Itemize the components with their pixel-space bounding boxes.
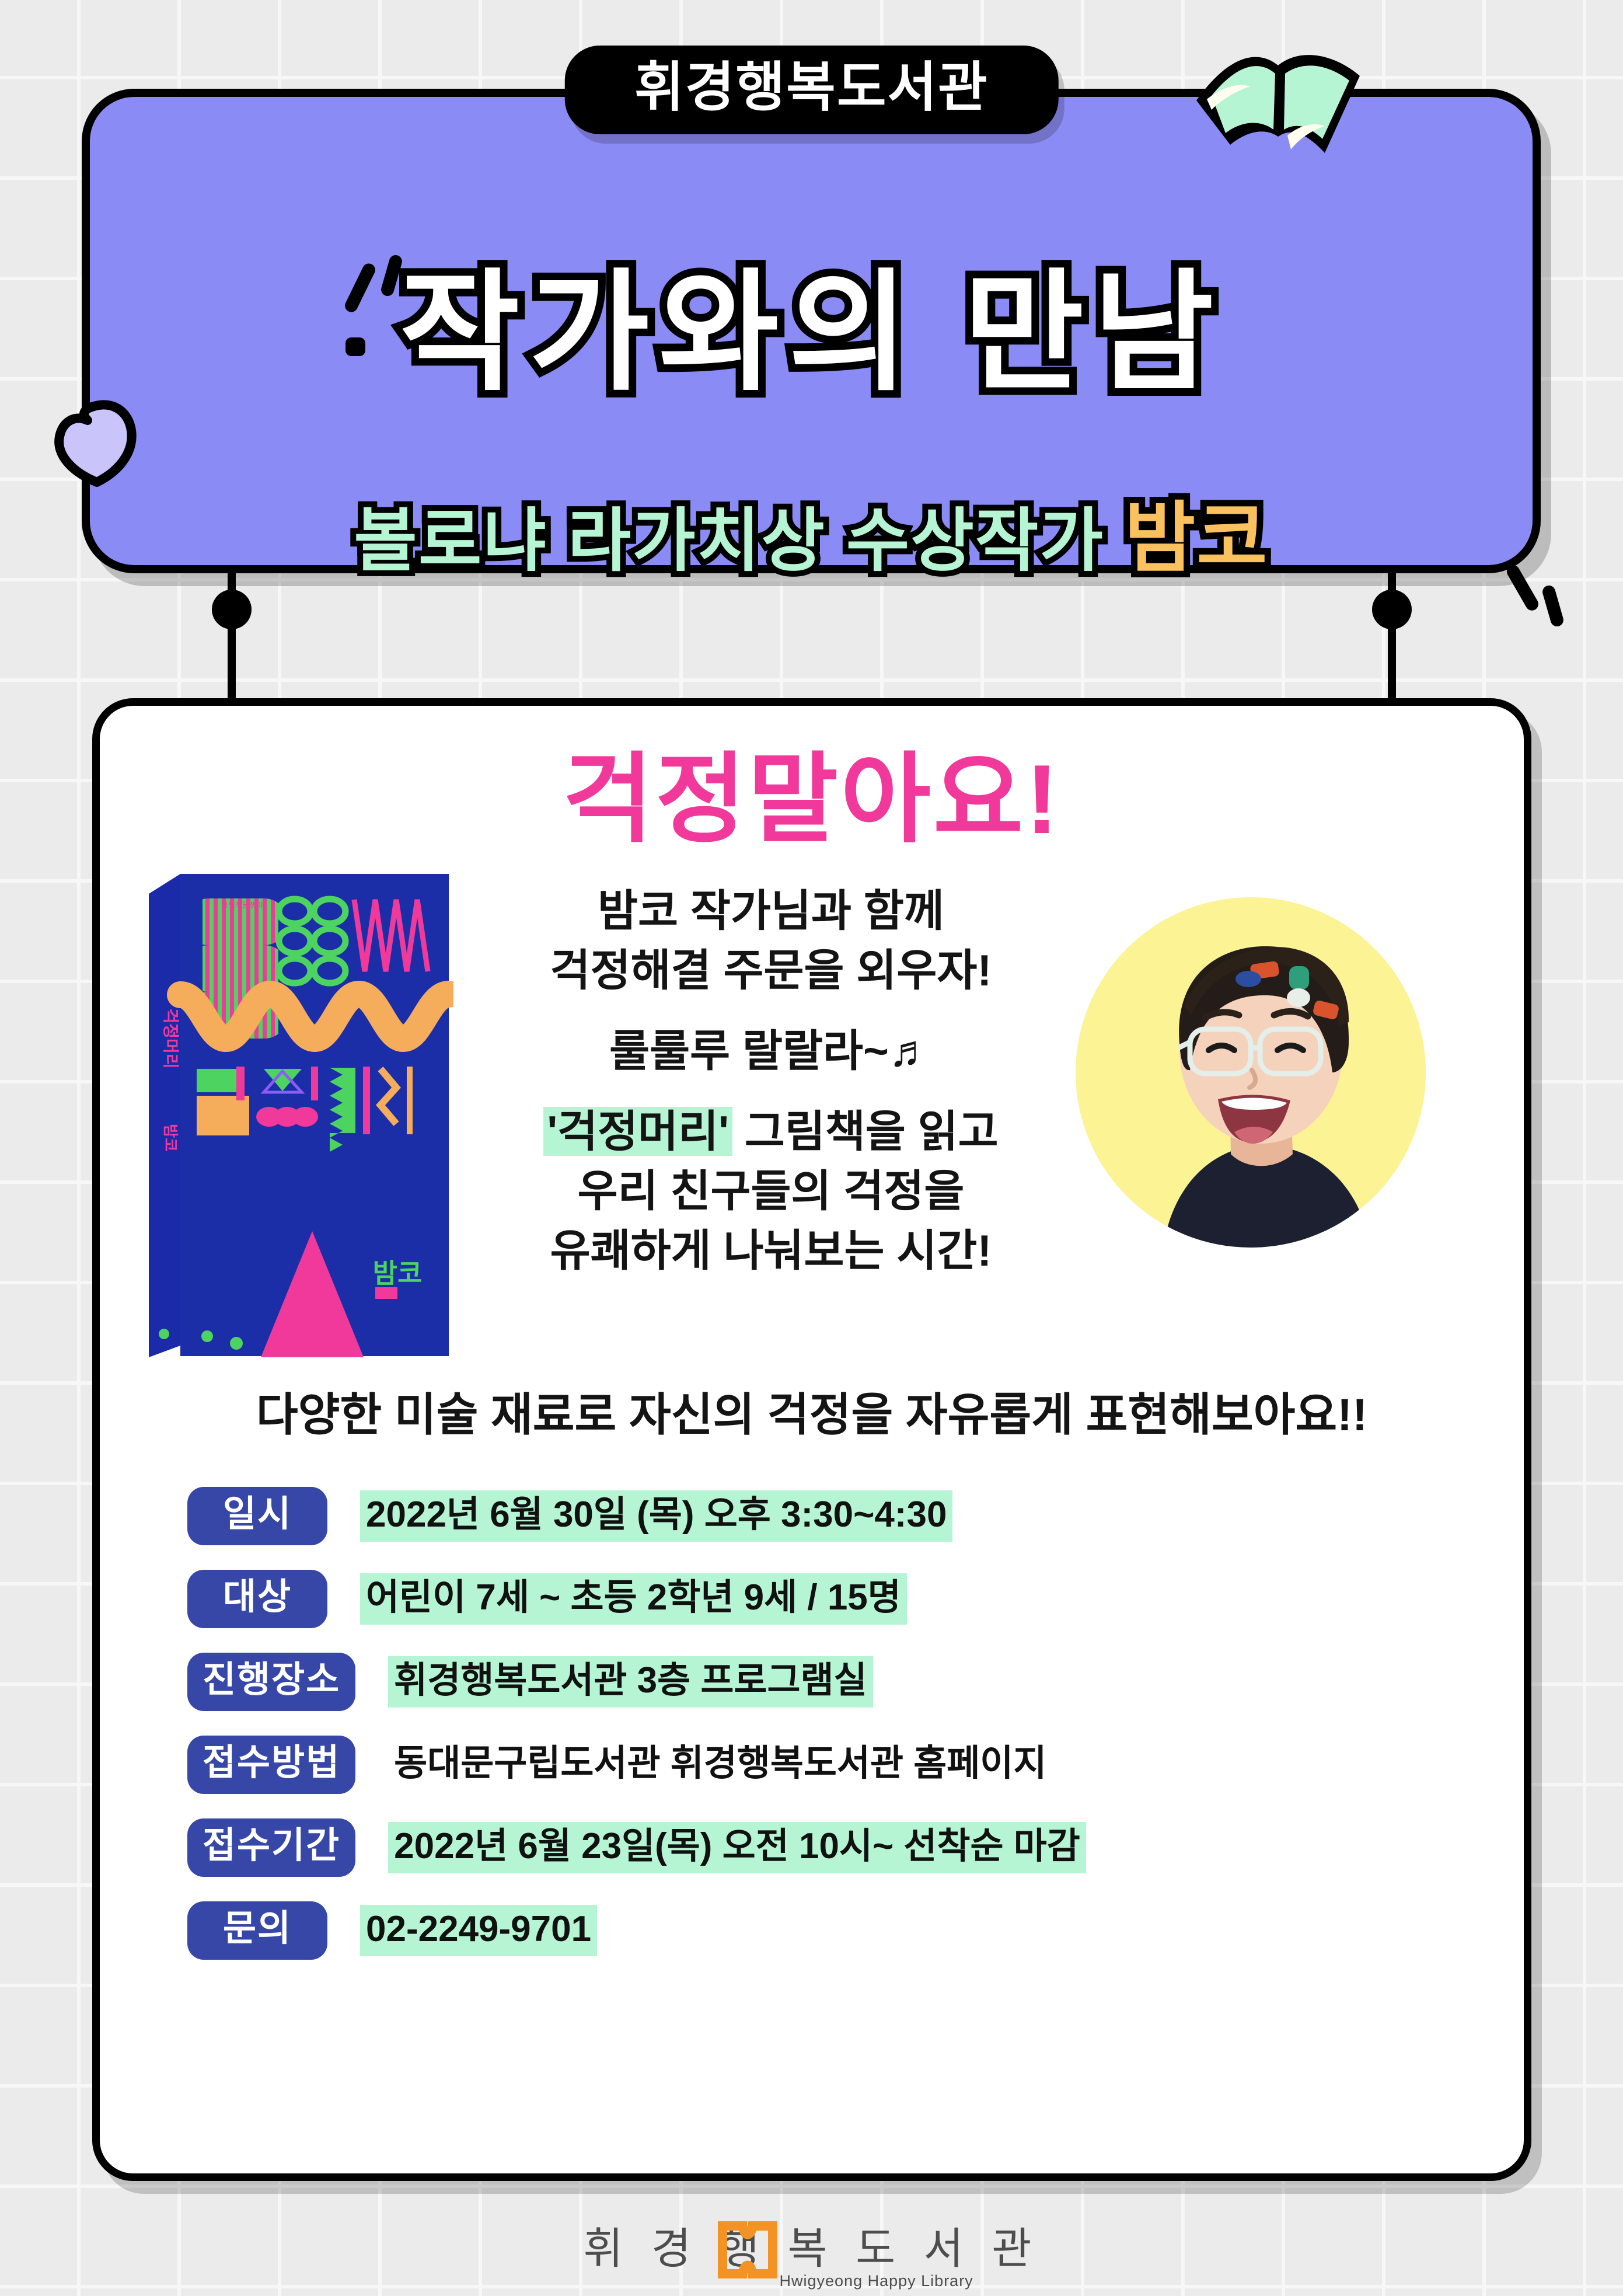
heart-icon [54, 398, 153, 490]
table-row: 접수방법 동대문구립도서관 휘경행복도서관 홈페이지 [187, 1731, 1471, 1799]
subtitle-award: 볼로냐 라가치상 수상작가 [354, 503, 1104, 580]
author-photo [1076, 897, 1426, 1248]
subtitle-author-name: 밤코 [1125, 495, 1269, 581]
description-line: 걱정해결 주문을 외우자! [444, 940, 1098, 1000]
info-label-datetime: 일시 [187, 1487, 327, 1545]
event-info-table: 일시 2022년 6월 30일 (목) 오후 3:30~4:30 대상 어린이 … [187, 1482, 1471, 1980]
content-white-card: 걱정말아요! 걱정머리 밤코 그림책담쟁이 [92, 698, 1531, 2181]
info-label-audience: 대상 [187, 1570, 327, 1628]
info-label-contact: 문의 [187, 1901, 327, 1960]
svg-text:밤코: 밤코 [373, 1258, 423, 1288]
svg-text:밤코: 밤코 [162, 1124, 179, 1152]
open-book-logo-icon [713, 2214, 782, 2285]
book-title-highlight: '걱정머리' [543, 1107, 732, 1156]
table-row: 문의 02-2249-9701 [187, 1897, 1471, 1964]
table-row: 대상 어린이 7세 ~ 초등 2학년 9세 / 15명 [187, 1565, 1471, 1633]
info-label-registration-method: 접수방법 [187, 1736, 355, 1794]
library-name-badge: 휘경행복도서관 [564, 46, 1058, 134]
book-cover-image: 걱정머리 밤코 그림책담쟁이 [144, 863, 453, 1365]
info-value-contact: 02-2249-9701 [360, 1905, 597, 1956]
table-row: 일시 2022년 6월 30일 (목) 오후 3:30~4:30 [187, 1482, 1471, 1550]
footer-library-name-en: Hwigyeong Happy Library [780, 2272, 973, 2290]
description-line: 우리 친구들의 걱정을 [444, 1161, 1098, 1221]
info-value-registration-method: 동대문구립도서관 휘경행복도서관 홈페이지 [388, 1739, 1052, 1790]
info-value-registration-period: 2022년 6월 23일(목) 오전 10시~ 선착순 마감 [388, 1822, 1086, 1873]
info-value-venue: 휘경행복도서관 3층 프로그램실 [388, 1656, 872, 1707]
table-row: 진행장소 휘경행복도서관 3층 프로그램실 [187, 1648, 1471, 1716]
footer-library-name-kr: 휘 경 행 복 도 서 관 [584, 2227, 1040, 2270]
description-block: 밤코 작가님과 함께 걱정해결 주문을 외우자! 룰룰루 랄랄라~♬ '걱정머리… [444, 881, 1098, 1280]
description-line: 유쾌하게 나눠보는 시간! [444, 1221, 1098, 1280]
hanger-dot-right [1372, 590, 1412, 629]
sparkle-icon [1541, 584, 1565, 628]
description-line: 룰룰루 랄랄라~♬ [444, 1021, 1098, 1081]
pink-headline: 걱정말아요! [100, 750, 1524, 848]
table-row: 접수기간 2022년 6월 23일(목) 오전 10시~ 선착순 마감 [187, 1814, 1471, 1882]
svg-text:걱정머리: 걱정머리 [162, 1008, 180, 1068]
description-wide: 다양한 미술 재료로 자신의 걱정을 자유롭게 표현해보아요!! [100, 1388, 1524, 1443]
description-line: 밤코 작가님과 함께 [444, 881, 1098, 940]
footer-logo: 휘 경 행 복 도 서 관 Hwigyeong Happy Library [584, 2227, 1040, 2270]
sparkle-dot-icon [345, 337, 365, 356]
info-value-datetime: 2022년 6월 30일 (목) 오후 3:30~4:30 [360, 1490, 952, 1541]
hanger-dot-left [212, 590, 252, 629]
description-line-book: '걱정머리' 그림책을 읽고 [444, 1102, 1098, 1161]
open-book-icon [1185, 30, 1371, 176]
library-name-text: 휘경행복도서관 [634, 58, 988, 117]
info-value-audience: 어린이 7세 ~ 초등 2학년 9세 / 15명 [360, 1573, 907, 1624]
info-label-registration-period: 접수기간 [187, 1818, 355, 1877]
svg-text:그림책담쟁이: 그림책담쟁이 [221, 901, 263, 910]
page-title: 작가와의 만남 [90, 267, 1533, 398]
subtitle: 볼로냐 라가치상 수상작가 밤코 [90, 500, 1533, 577]
footer: 휘 경 행 복 도 서 관 Hwigyeong Happy Library [0, 2227, 1623, 2270]
info-label-venue: 진행장소 [187, 1653, 355, 1711]
book-title-suffix: 그림책을 읽고 [732, 1107, 999, 1156]
